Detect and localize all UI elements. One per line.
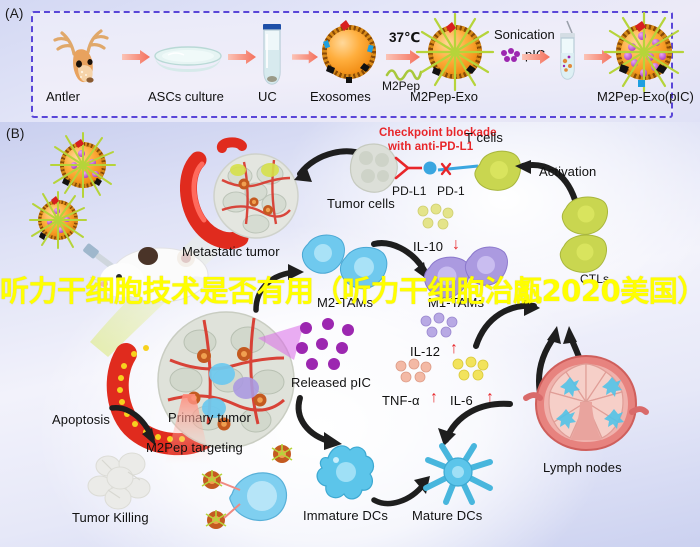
panel-a-label-ascs: ASCs culture [148,89,224,104]
label-tumor-cells: Tumor cells [327,196,395,211]
label-m2-tams: M2-TAMs [317,295,373,310]
il-10-down-arrow: ↓ [452,236,460,254]
label-activation: Activation [539,164,596,179]
deer-antler-icon [48,24,120,86]
peptide-exosome-icon [428,25,482,79]
loaded-exosome-icon [616,24,672,80]
ctl-cell-2 [558,232,612,274]
il-12-particles [418,314,460,342]
panel-b-tag: (B) [6,126,25,141]
label-mature-dcs: Mature DCs [412,508,482,523]
pic-particles-icon [500,48,522,69]
nanoparticle-1 [60,142,106,188]
released-pic-particles [296,320,360,372]
m2-tam-cell-2 [338,244,392,292]
panel-b: Metastatic tumor Tumor cells Checkpoint … [0,122,700,547]
label-released-pic: Released pIC [291,375,371,390]
m2pep-targeting-icon [180,448,310,532]
process-arrow-3 [292,50,318,69]
label-lymph-nodes: Lymph nodes [543,460,622,475]
panel-a-label-m2pep-exo: M2Pep-Exo [410,89,478,104]
arrow-m1-to-lymph [472,290,542,350]
process-arrow-1 [122,50,150,69]
centrifuge-tube-icon [259,24,285,86]
process-arrow-5 [522,50,550,69]
label-apoptosis: Apoptosis [52,412,110,427]
process-arrow-2 [228,50,256,69]
arrow-tumor-to-m2tam [250,264,310,314]
lymph-node-icon [522,350,648,460]
label-t-cells: T cells [465,130,503,145]
tnf-alpha-up-arrow: ↑ [430,389,438,407]
sonication-tube-icon [556,21,580,83]
label-tnf-alpha: TNF-α [382,393,420,408]
immature-dc-icon [312,442,380,504]
label-checkpoint-blockade-line2: with anti-PD-L1 [388,141,473,153]
panel-a: (A) Antler [0,0,700,122]
panel-a-label-exosomes: Exosomes [310,89,371,104]
panel-a-tag: (A) [5,6,24,21]
panel-a-label-uc: UC [258,89,277,104]
label-il-12: IL-12 [410,344,440,359]
label-tumor-killing: Tumor Killing [72,510,149,525]
mature-dc-icon [420,440,496,508]
il-10-particles [415,204,455,232]
petri-dish-icon [152,44,224,76]
ctl-cell-1 [560,194,612,236]
figure-root: (A) Antler [0,0,700,547]
label-pd-l1: PD-L1 [392,184,427,198]
il-12-up-arrow: ↑ [450,340,458,358]
label-metastatic-tumor: Metastatic tumor [182,244,280,259]
panel-a-sonication-label: Sonication [494,27,555,42]
label-pd-1: PD-1 [437,184,465,198]
panel-a-label-m2pep-exo-pic: M2Pep-Exo(pIC) [597,89,694,104]
tnf-alpha-particles [393,360,435,388]
arrow-dc-to-lymph [438,380,518,448]
m1-tam-cell-2 [463,244,511,288]
dead-tumor-cell-icon [84,446,156,514]
panel-a-label-antler: Antler [46,89,80,104]
exosome-icon [322,25,376,79]
label-immature-dcs: Immature DCs [303,508,388,523]
